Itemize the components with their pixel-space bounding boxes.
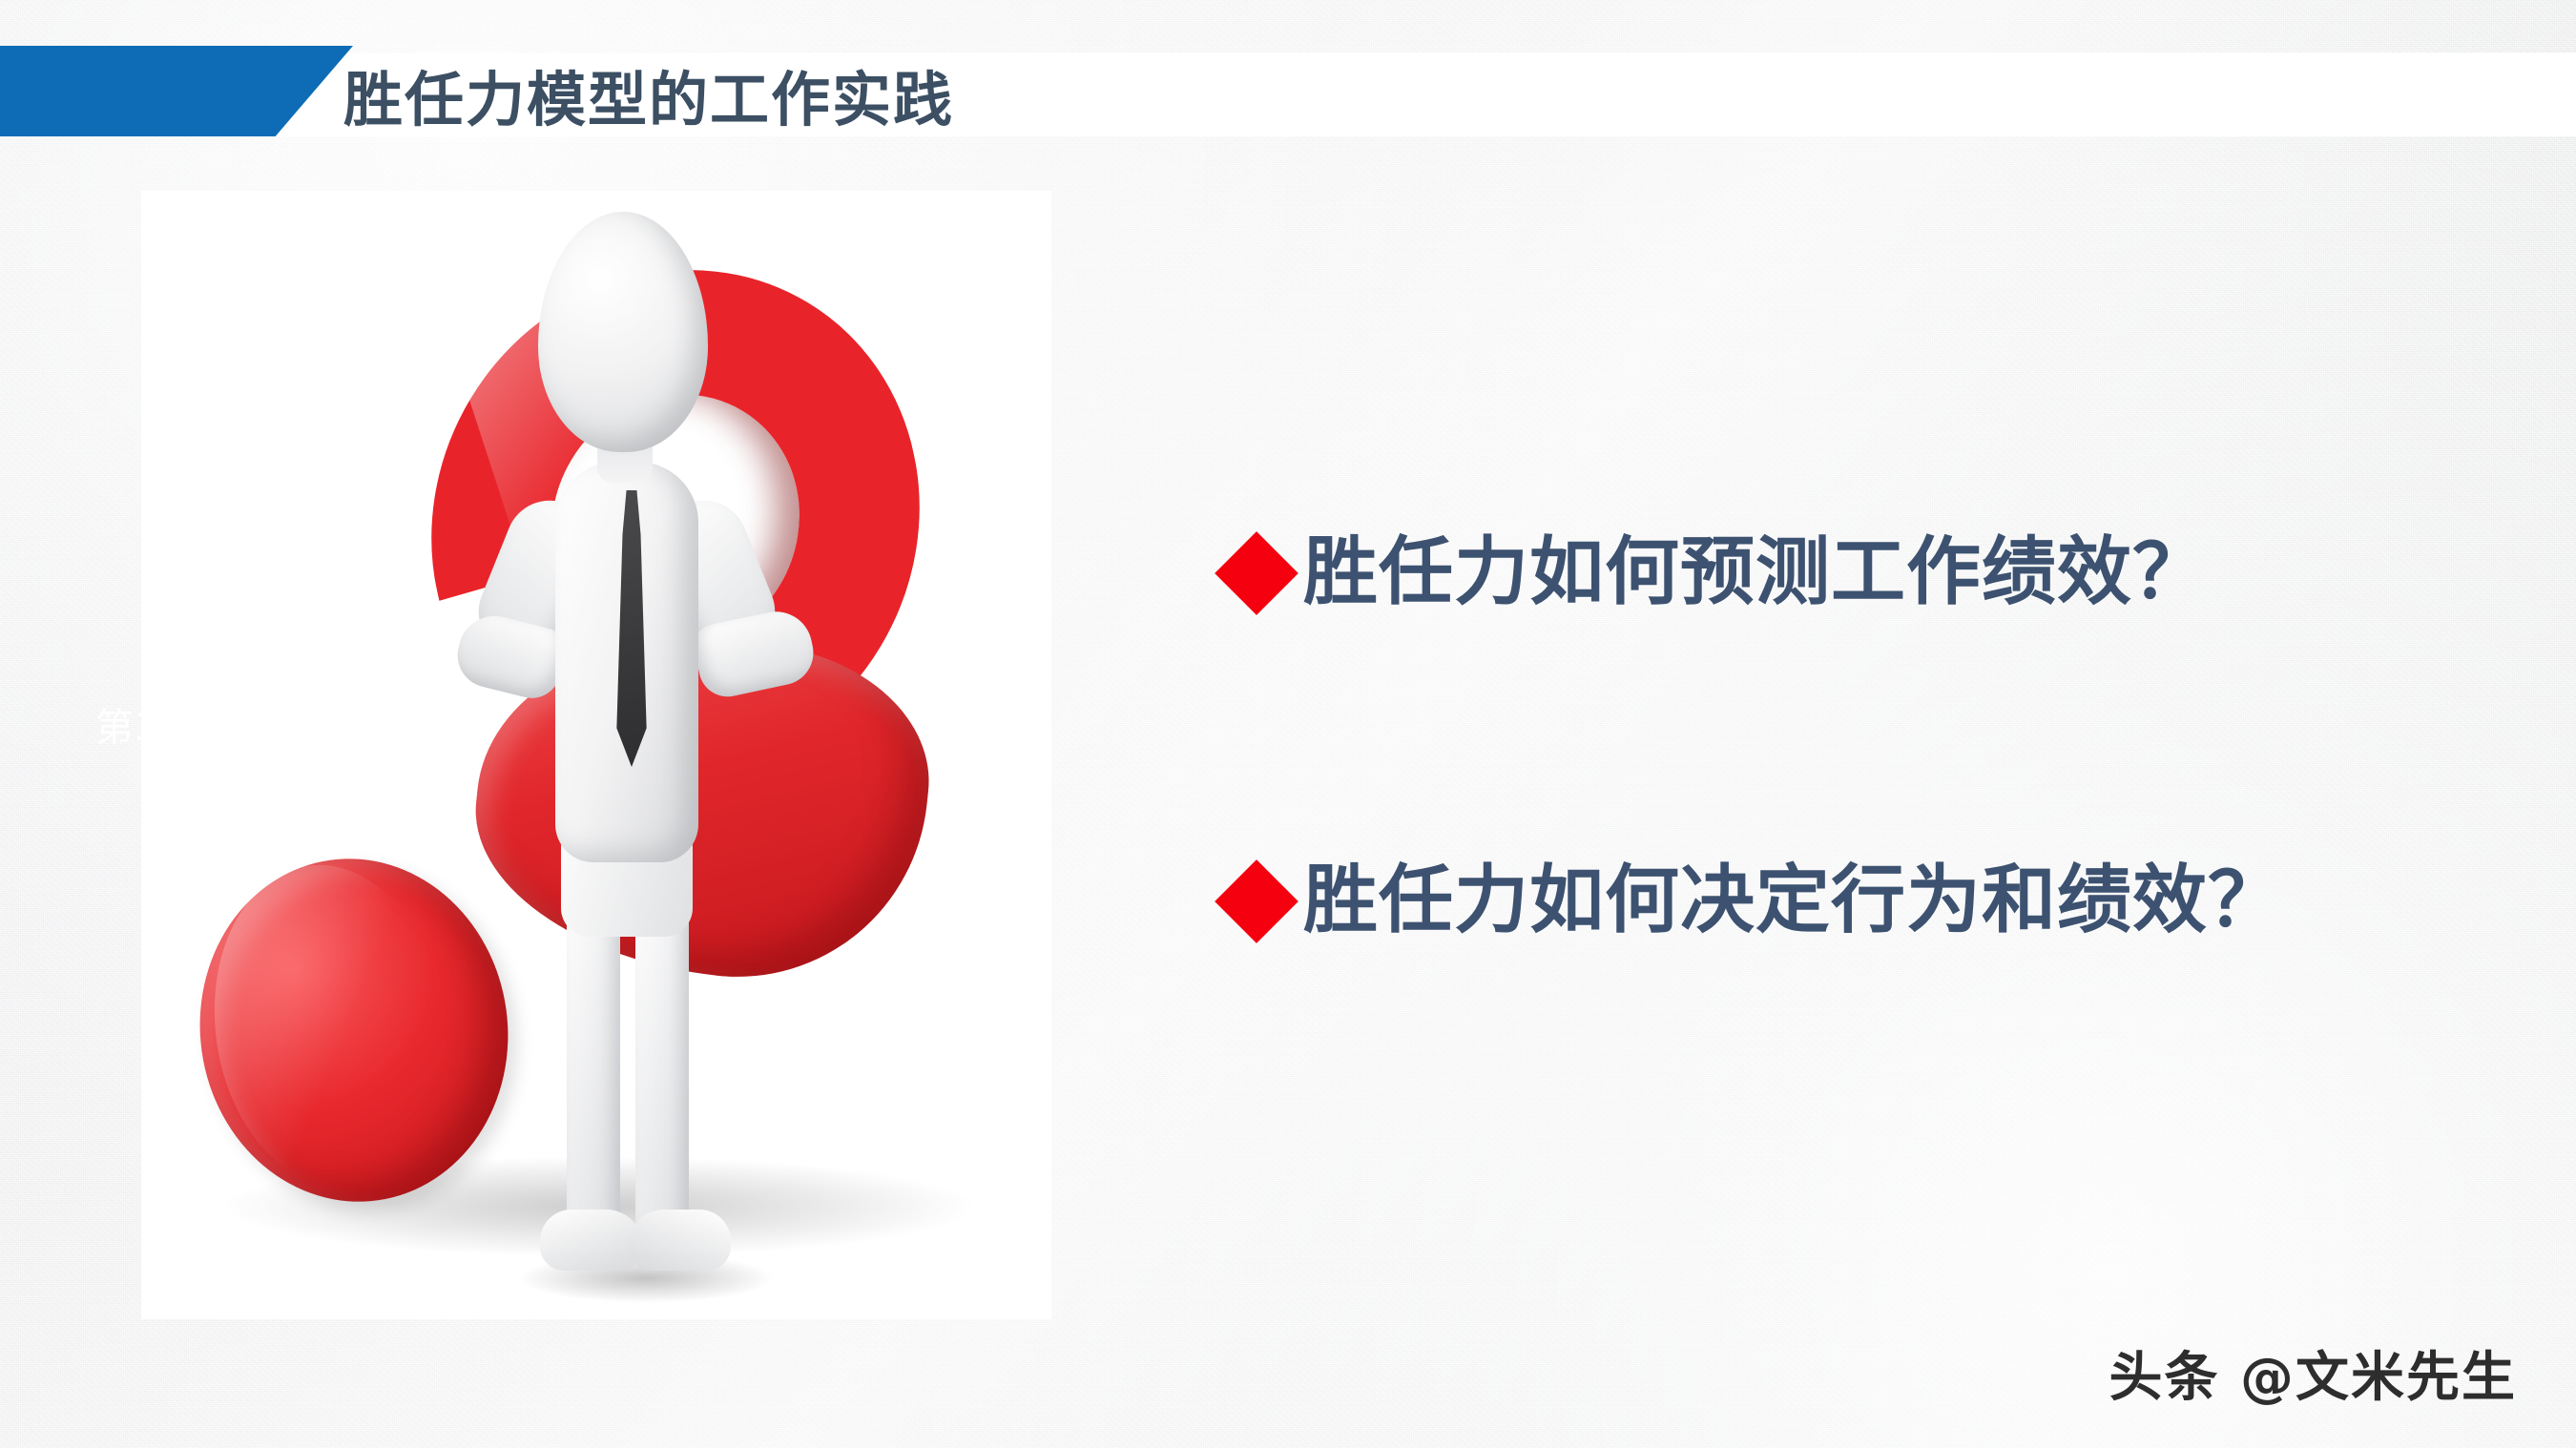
bullet-item-2-text: 胜任力如何决定行为和绩效？ [1303, 862, 2283, 941]
bullet-item-1-text: 胜任力如何预测工作绩效？ [1303, 534, 2208, 612]
slide-canvas: 第3节 胜任力模型的工作实践 [0, 0, 2576, 1448]
bullet-list: 胜任力如何预测工作绩效？ 胜任力如何决定行为和绩效？ [1227, 534, 2496, 941]
bullet-item-2: 胜任力如何决定行为和绩效？ [1227, 862, 2496, 941]
footer-watermark: 头条 @文米先生 [2109, 1334, 2518, 1412]
diamond-bullet-icon [1215, 531, 1298, 615]
person-shrug-icon [485, 212, 809, 1290]
page-title: 胜任力模型的工作实践 [343, 52, 954, 136]
diamond-bullet-icon [1215, 859, 1298, 943]
bullet-item-1: 胜任力如何预测工作绩效？ [1227, 534, 2496, 612]
person-right-foot [628, 1210, 731, 1271]
person-head [538, 212, 708, 452]
illustration-stage [141, 191, 1051, 1319]
illustration-frame [141, 191, 1051, 1319]
